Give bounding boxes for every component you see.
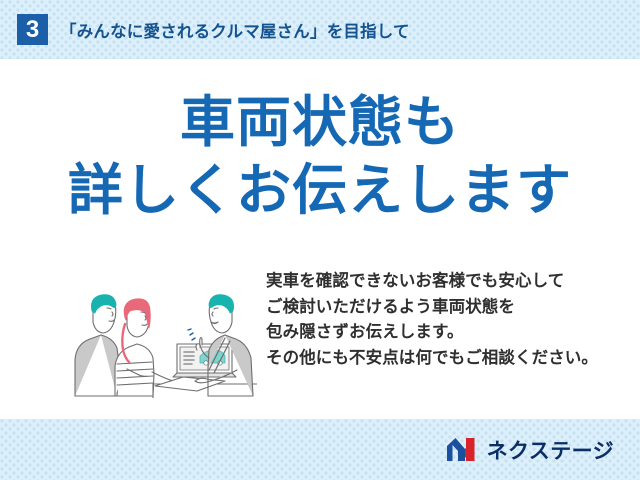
consultation-illustration [57, 278, 257, 398]
lower-row: 実車を確認できないお客様でも安心して ご検討いただけるよう車両状態を 包み隠さず… [0, 269, 640, 419]
body-copy-line-2: ご検討いただけるよう車両状態を [266, 295, 626, 321]
footer-brand-logo: ネクステージ [0, 419, 640, 480]
headline-line-2: 詳しくお伝えします [0, 163, 640, 218]
headline: 車両状態も 詳しくお伝えします [0, 95, 640, 218]
section-number-badge: 3 [17, 14, 48, 45]
body-copy-line-1: 実車を確認できないお客様でも安心して [266, 269, 626, 295]
body-copy-line-4: その他にも不安点は何でもご相談ください。 [266, 346, 626, 372]
body-copy-line-3: 包み隠さずお伝えします。 [266, 320, 626, 346]
headline-line-1: 車両状態も [0, 95, 640, 150]
consultation-illustration-svg [57, 278, 257, 398]
header-title: 「みんなに愛されるクルマ屋さん」を目指して [60, 18, 410, 42]
header: 3 「みんなに愛されるクルマ屋さん」を目指して [0, 0, 640, 59]
promo-slide: 3 「みんなに愛されるクルマ屋さん」を目指して 車両状態も 詳しくお伝えします [0, 0, 640, 480]
content-panel: 車両状態も 詳しくお伝えします [0, 59, 640, 419]
body-copy: 実車を確認できないお客様でも安心して ご検討いただけるよう車両状態を 包み隠さず… [266, 269, 626, 371]
brand-wordmark: ネクステージ [487, 435, 614, 465]
nextage-n-logo-icon [446, 437, 480, 463]
